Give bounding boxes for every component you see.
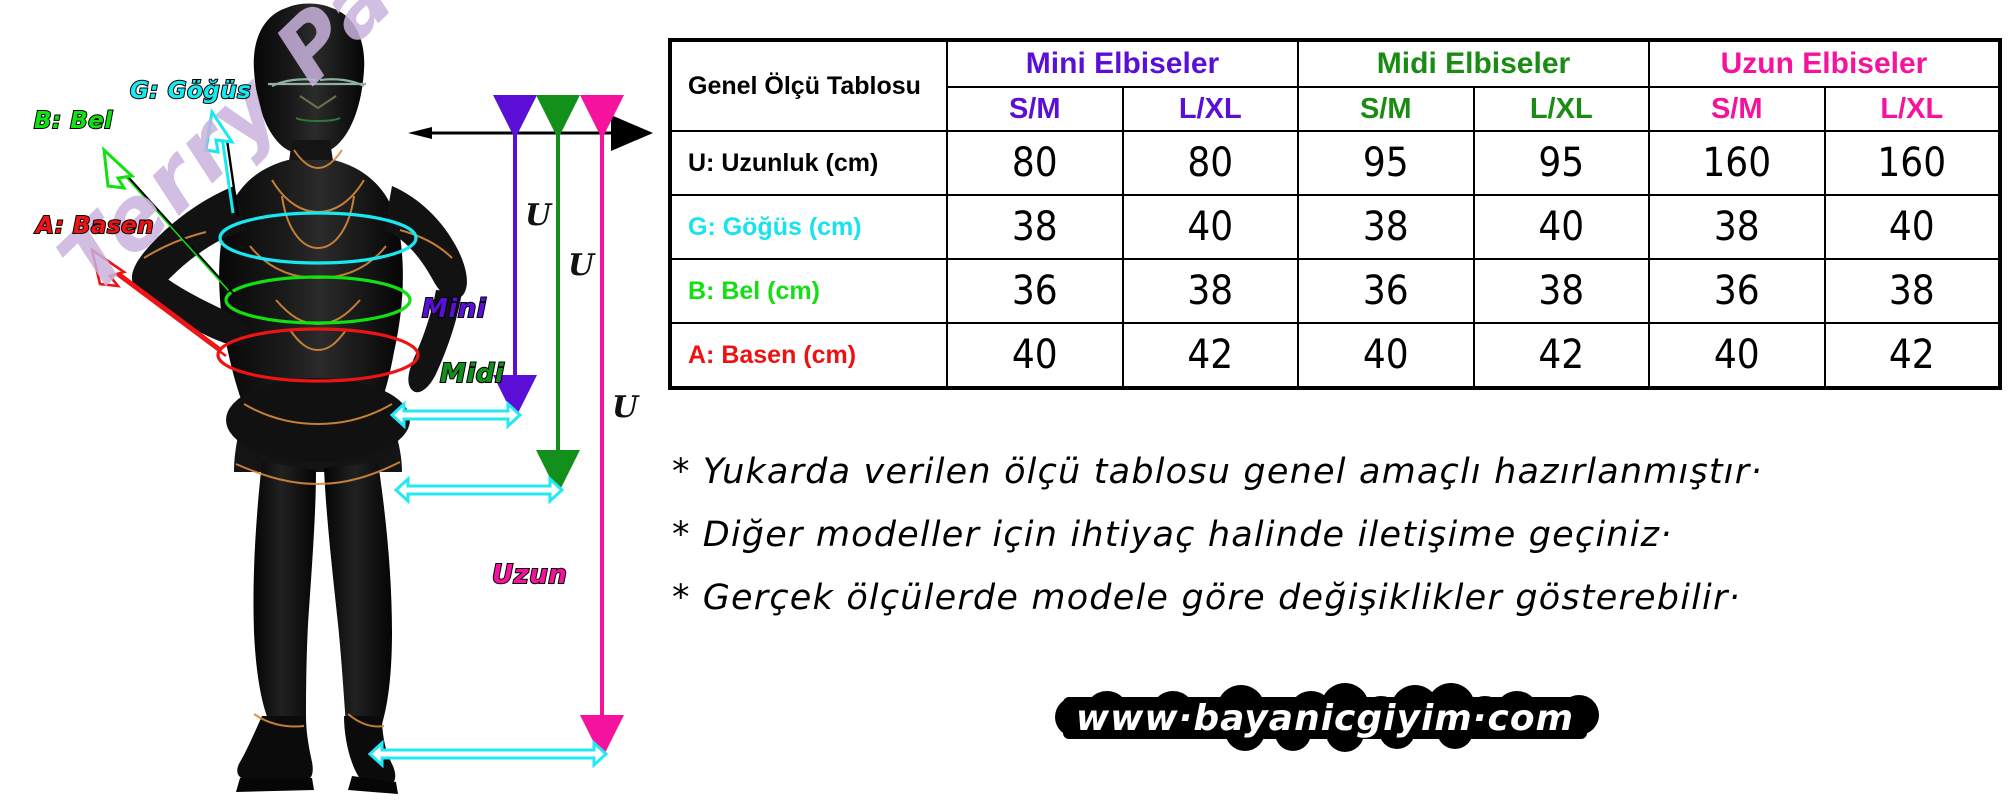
cell-uzunluk-midi-sm: 95 [1298,131,1474,195]
size-chart-page: Terry Pau G: Göğüs B: Bel A: Basen Mini … [0,0,2010,811]
cell-basen-uzun-sm: 40 [1649,323,1825,388]
size-header-mini-lxl: L/XL [1123,87,1299,131]
label-uzun: Uzun [492,560,567,590]
label-mini: Mini [422,294,486,324]
group-header-mini: Mini Elbiseler [947,40,1298,87]
cell-gogus-mini-sm: 38 [947,195,1123,259]
midi-hem-arrow [396,479,562,501]
note-text: Gerçek ölçülerde modele göre değişiklikl… [703,578,1741,618]
group-header-uzun: Uzun Elbiseler [1649,40,2000,87]
u-marker-uzun: U [612,390,638,425]
website-banner[interactable]: www·bayanicgiyim·com [1045,683,1605,753]
row-label-gogus: G: Göğüs (cm) [670,195,947,259]
table-row: B: Bel (cm) 36 38 36 38 36 38 [670,259,2000,323]
note-bullet: * [672,578,691,618]
table-corner-label: Genel Ölçü Tablosu [670,40,947,131]
cell-uzunluk-uzun-sm: 160 [1649,131,1825,195]
cell-gogus-uzun-lxl: 40 [1825,195,2001,259]
cell-gogus-midi-sm: 38 [1298,195,1474,259]
size-table: Genel Ölçü Tablosu Mini Elbiseler Midi E… [668,38,2002,390]
notes-list: *Yukarda verilen ölçü tablosu genel amaç… [672,455,2002,644]
size-header-midi-lxl: L/XL [1474,87,1650,131]
note-item: *Gerçek ölçülerde modele göre değişiklik… [672,581,2002,616]
note-text: Yukarda verilen ölçü tablosu genel amaçl… [703,452,1763,492]
group-header-midi: Midi Elbiseler [1298,40,1649,87]
label-bel: B: Bel [34,108,113,134]
cell-bel-midi-lxl: 38 [1474,259,1650,323]
note-bullet: * [672,452,691,492]
cell-bel-uzun-lxl: 38 [1825,259,2001,323]
mini-hem-arrow [392,404,520,426]
cell-gogus-midi-lxl: 40 [1474,195,1650,259]
table-row: U: Uzunluk (cm) 80 80 95 95 160 160 [670,131,2000,195]
note-bullet: * [672,515,691,555]
cell-gogus-mini-lxl: 40 [1123,195,1299,259]
label-gogus: G: Göğüs [130,78,251,104]
cell-bel-mini-sm: 36 [947,259,1123,323]
u-marker-mini: U [525,198,551,233]
cell-basen-mini-sm: 40 [947,323,1123,388]
cell-basen-midi-sm: 40 [1298,323,1474,388]
row-label-basen: A: Basen (cm) [670,323,947,388]
note-text: Diğer modeller için ihtiyaç halinde ilet… [703,515,1673,555]
model-illustration-panel: Terry Pau G: Göğüs B: Bel A: Basen Mini … [0,0,660,811]
uzun-hem-arrow [370,743,606,765]
cell-bel-midi-sm: 36 [1298,259,1474,323]
cell-uzunluk-midi-lxl: 95 [1474,131,1650,195]
top-reference-line [408,127,650,139]
size-header-uzun-lxl: L/XL [1825,87,2001,131]
cell-basen-mini-lxl: 42 [1123,323,1299,388]
cell-uzunluk-uzun-lxl: 160 [1825,131,2001,195]
figure-silhouette [132,4,467,795]
note-item: *Yukarda verilen ölçü tablosu genel amaç… [672,455,2002,490]
cell-bel-mini-lxl: 38 [1123,259,1299,323]
u-marker-midi: U [568,248,594,283]
size-header-midi-sm: S/M [1298,87,1474,131]
cell-bel-uzun-sm: 36 [1649,259,1825,323]
cell-uzunluk-mini-sm: 80 [947,131,1123,195]
table-row: A: Basen (cm) 40 42 40 42 40 42 [670,323,2000,388]
label-basen: A: Basen [36,213,154,239]
cell-uzunluk-mini-lxl: 80 [1123,131,1299,195]
row-label-bel: B: Bel (cm) [670,259,947,323]
size-header-mini-sm: S/M [947,87,1123,131]
table-row: G: Göğüs (cm) 38 40 38 40 38 40 [670,195,2000,259]
row-label-uzunluk: U: Uzunluk (cm) [670,131,947,195]
cell-basen-midi-lxl: 42 [1474,323,1650,388]
size-header-uzun-sm: S/M [1649,87,1825,131]
label-midi: Midi [440,359,504,389]
cell-gogus-uzun-sm: 38 [1649,195,1825,259]
size-table-panel: Genel Ölçü Tablosu Mini Elbiseler Midi E… [660,0,2010,811]
cell-basen-uzun-lxl: 42 [1825,323,2001,388]
note-item: *Diğer modeller için ihtiyaç halinde ile… [672,518,2002,553]
website-url-text[interactable]: www·bayanicgiyim·com [1045,683,1605,753]
table-group-header-row: Genel Ölçü Tablosu Mini Elbiseler Midi E… [670,40,2000,87]
